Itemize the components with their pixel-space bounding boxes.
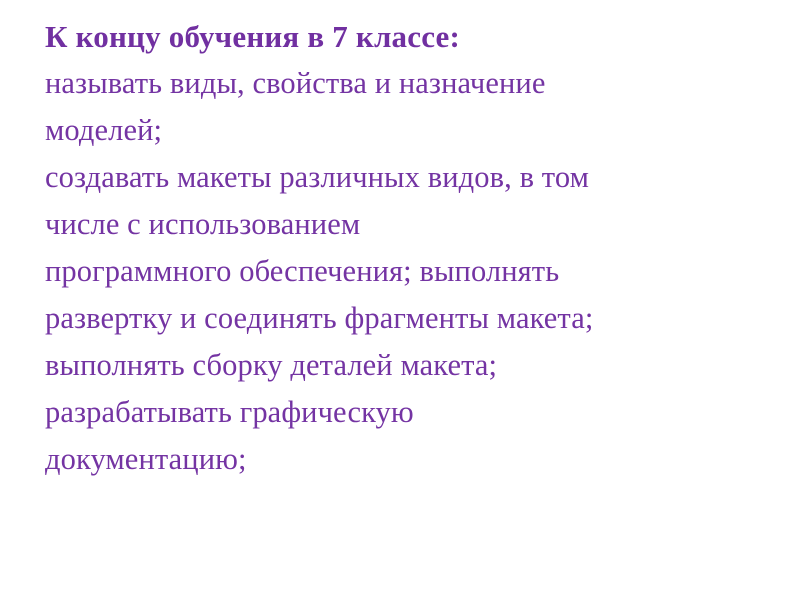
slide-body-line-3: создавать макеты различных видов, в том xyxy=(45,154,790,201)
slide-body-line-7: выполнять сборку деталей макета; xyxy=(45,342,790,389)
slide-body-line-5: программного обеспечения; выполнять xyxy=(45,248,790,295)
slide-body-line-2: моделей; xyxy=(45,107,790,154)
slide-body-line-1: называть виды, свойства и назначение xyxy=(45,60,790,107)
slide-body-line-4: числе с использованием xyxy=(45,201,790,248)
slide-text-block: К концу обучения в 7 классе: называть ви… xyxy=(45,13,790,483)
slide-canvas: К концу обучения в 7 классе: называть ви… xyxy=(0,0,800,600)
slide-heading: К концу обучения в 7 классе: xyxy=(45,13,790,60)
slide-body-line-6: развертку и соединять фрагменты макета; xyxy=(45,295,790,342)
slide-body-line-8: разрабатывать графическую xyxy=(45,389,790,436)
slide-body-line-9: документацию; xyxy=(45,436,790,483)
